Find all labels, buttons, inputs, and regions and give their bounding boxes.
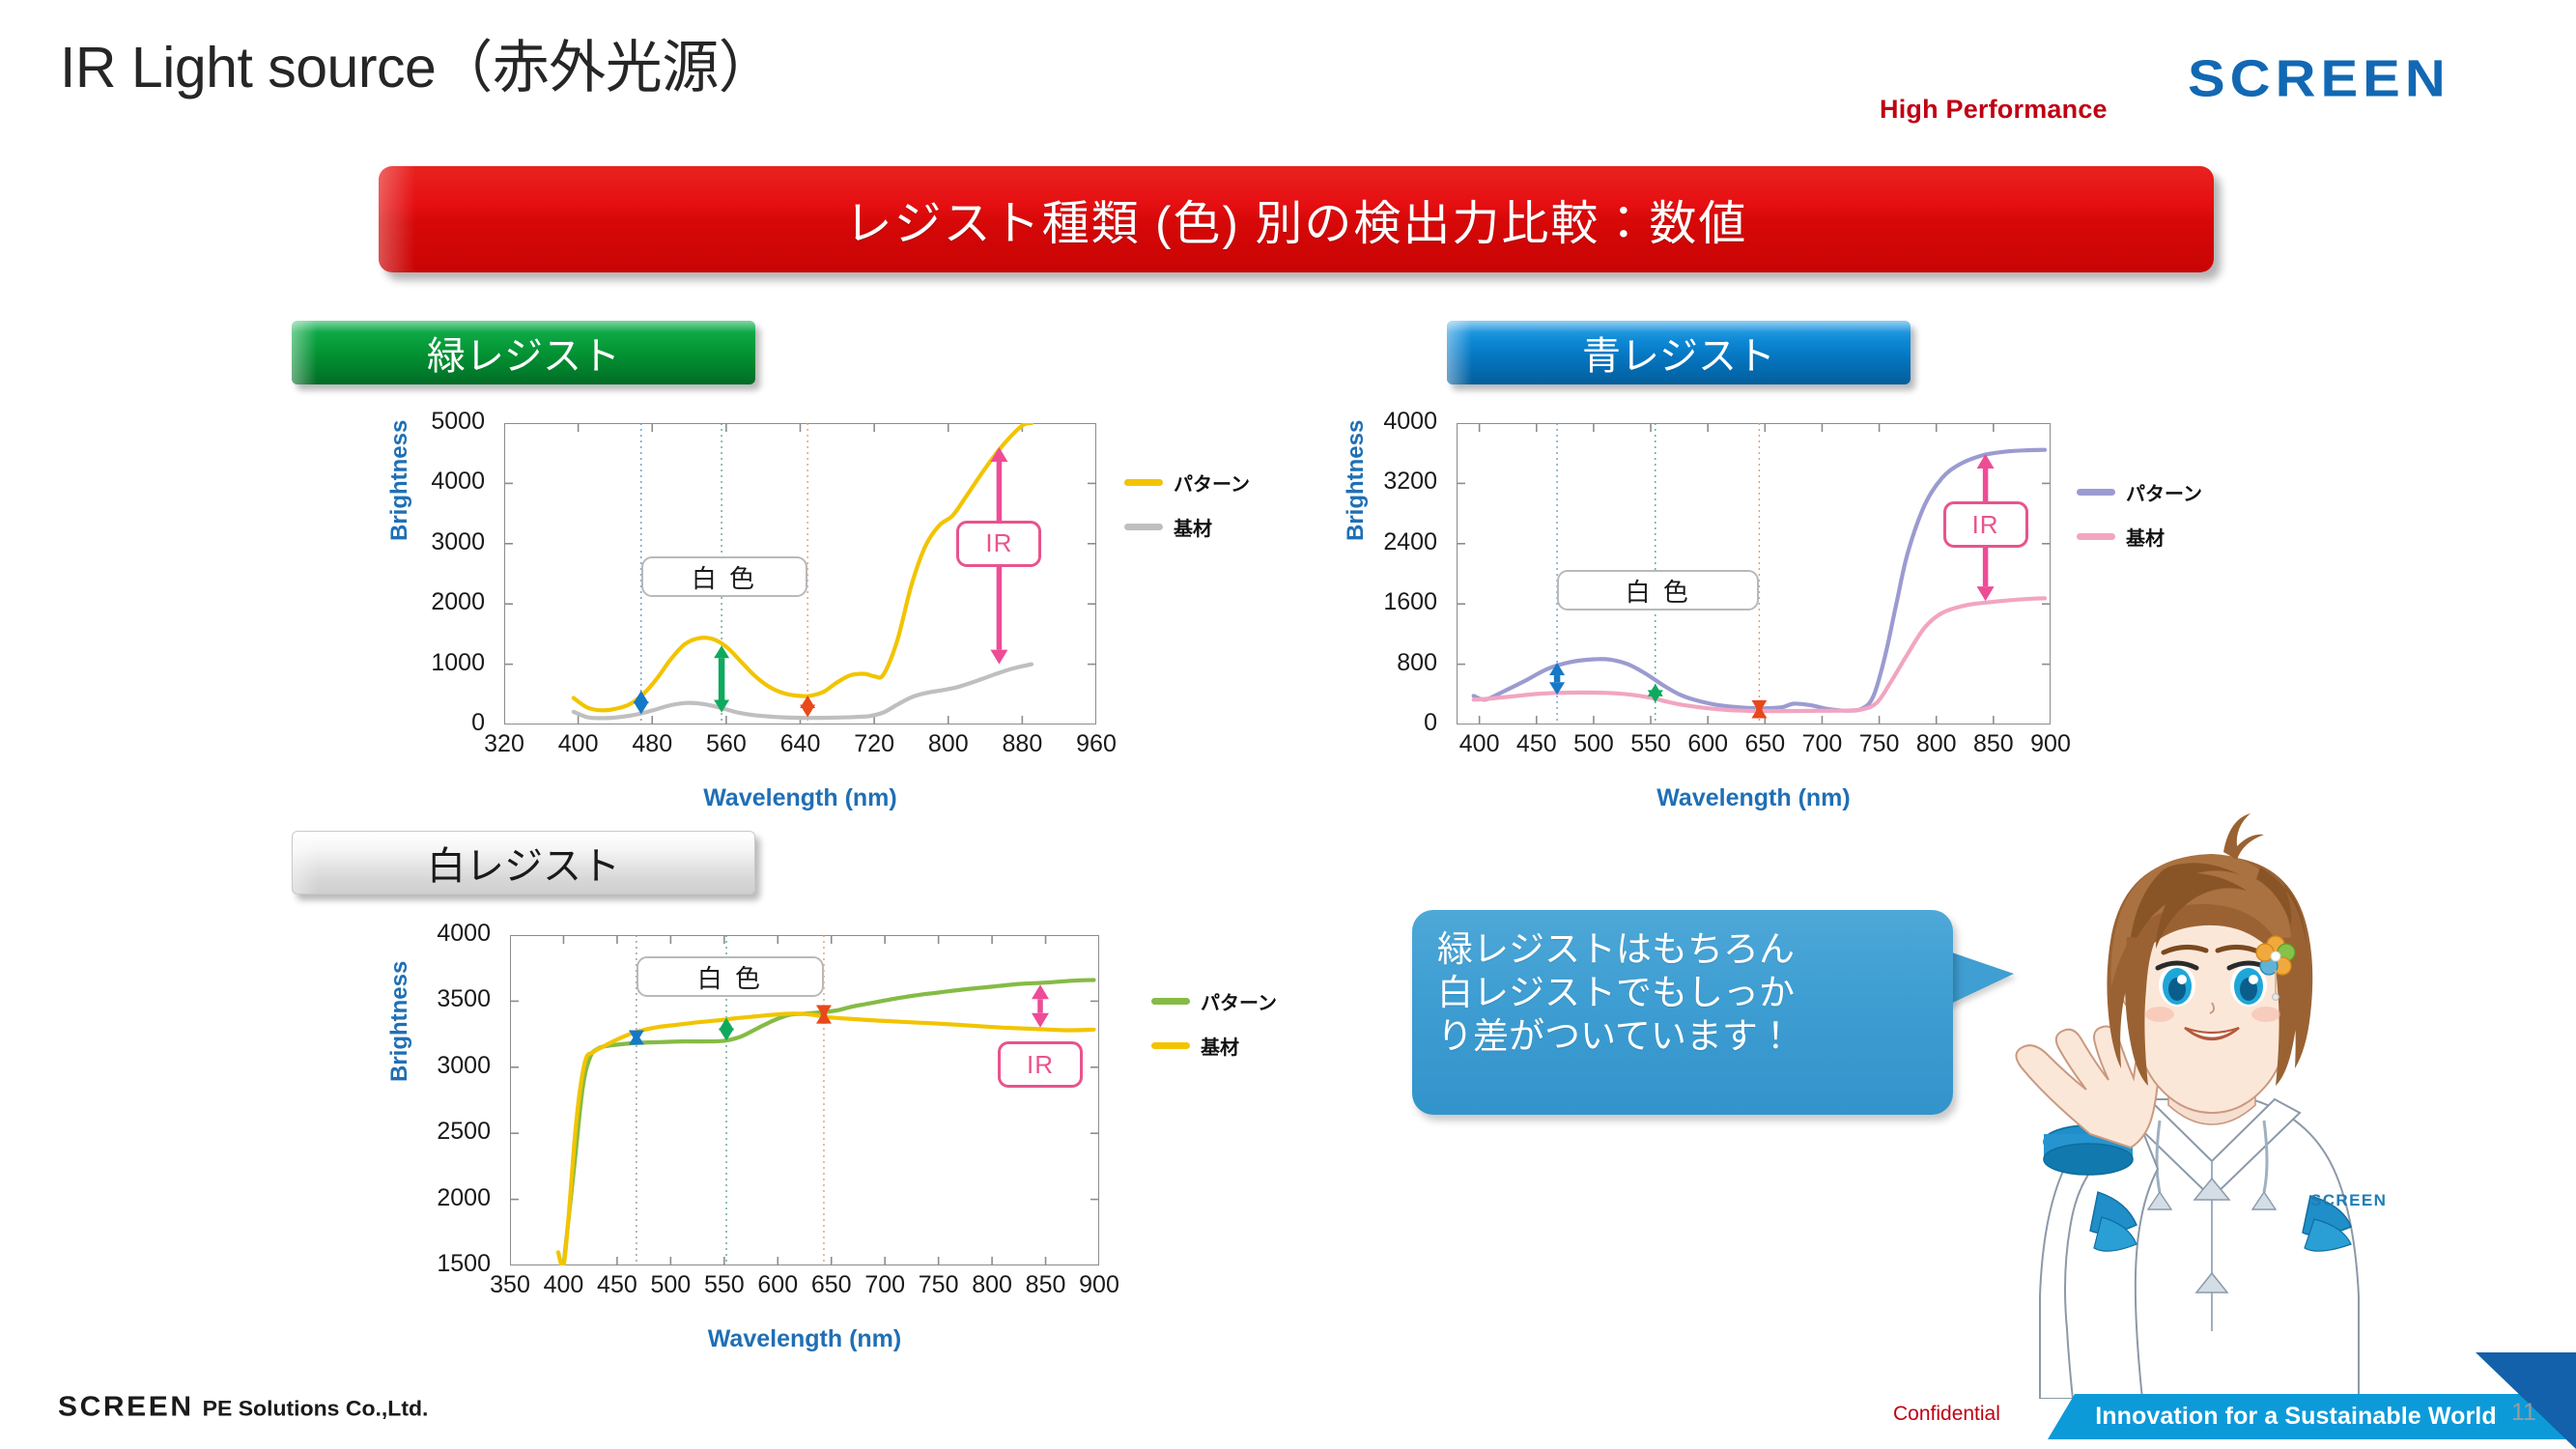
- callout-bubble: 緑レジストはもちろん 白レジストでもしっか り差がついています！: [1412, 910, 1953, 1115]
- legend-item: 基材: [2077, 523, 2165, 551]
- legend-swatch: [1124, 479, 1163, 486]
- legend-item: 基材: [1151, 1032, 1239, 1060]
- y-tick-label: 1600: [1337, 588, 1437, 616]
- y-tick-label: 0: [384, 709, 485, 737]
- chart-title-green-resist: 緑レジスト: [292, 321, 755, 384]
- y-tick-label: 1500: [390, 1250, 491, 1278]
- chart-title-label: 緑レジスト: [427, 325, 620, 381]
- y-tick-label: 2500: [390, 1118, 491, 1146]
- footer-tagline-text: Innovation for a Sustainable World: [2095, 1403, 2496, 1431]
- x-tick-label: 560: [686, 730, 767, 758]
- section-banner: レジスト種類 (色) 別の検出力比較：数値: [379, 166, 2214, 272]
- screen-logo: SCREEN: [2188, 49, 2450, 109]
- ir-range-box: IR: [1943, 501, 2028, 548]
- x-tick-label: 880: [981, 730, 1062, 758]
- chart-title-blue-resist: 青レジスト: [1447, 321, 1911, 384]
- legend-swatch: [1151, 1042, 1190, 1049]
- ir-range-box: IR: [956, 521, 1041, 567]
- section-banner-label: レジスト種類 (色) 別の検出力比較：数値: [845, 185, 1748, 254]
- x-tick-label: 400: [538, 730, 619, 758]
- legend-label: 基材: [2126, 523, 2165, 551]
- footer-logo: SCREENPE Solutions Co.,Ltd.: [58, 1392, 428, 1423]
- chart-title-label: 青レジスト: [1582, 325, 1775, 381]
- x-tick-label: 640: [760, 730, 841, 758]
- confidential-label: Confidential: [1893, 1403, 2000, 1426]
- high-performance-tagline: High Performance: [1880, 95, 2108, 125]
- legend-item: 基材: [1124, 513, 1212, 541]
- chart-title-white-resist: 白レジスト: [292, 831, 755, 895]
- legend-item: パターン: [1124, 469, 1250, 497]
- legend-item: パターン: [2077, 478, 2202, 506]
- y-tick-label: 2000: [384, 588, 485, 616]
- legend-swatch: [1124, 524, 1163, 530]
- y-tick-label: 0: [1337, 709, 1437, 737]
- mascot-illustration: SCREEN: [1970, 810, 2453, 1399]
- y-tick-label: 4000: [390, 920, 491, 948]
- footer-logo-brand: SCREEN: [58, 1392, 194, 1422]
- y-axis-title: Brightness: [1343, 420, 1370, 541]
- x-tick-label: 480: [611, 730, 693, 758]
- legend-label: 基材: [1201, 1032, 1239, 1060]
- x-axis-title: Wavelength (nm): [504, 784, 1096, 812]
- legend-item: パターン: [1151, 987, 1277, 1015]
- legend-label: パターン: [1174, 469, 1250, 497]
- legend-label: パターン: [1201, 987, 1277, 1015]
- y-axis-title: Brightness: [386, 961, 413, 1082]
- footer-logo-subtitle: PE Solutions Co.,Ltd.: [203, 1397, 429, 1421]
- x-tick-label: 800: [908, 730, 989, 758]
- legend-swatch: [1151, 998, 1190, 1005]
- white-light-range-box: 白 色: [1557, 570, 1759, 611]
- legend-swatch: [2077, 533, 2115, 540]
- ir-range-box: IR: [998, 1041, 1083, 1088]
- y-axis-title: Brightness: [386, 420, 413, 541]
- x-tick-label: 900: [1059, 1271, 1140, 1299]
- y-tick-label: 2000: [390, 1184, 491, 1212]
- page-title: IR Light source（赤外光源）: [60, 21, 775, 103]
- x-tick-label: 900: [2010, 730, 2091, 758]
- x-axis-title: Wavelength (nm): [510, 1325, 1099, 1353]
- y-tick-label: 800: [1337, 649, 1437, 677]
- x-axis-title: Wavelength (nm): [1457, 784, 2051, 812]
- uniform-logo-text: SCREEN: [2310, 1191, 2387, 1209]
- legend-label: パターン: [2126, 478, 2202, 506]
- y-tick-label: 1000: [384, 649, 485, 677]
- page-number: 11: [2511, 1399, 2536, 1427]
- legend-swatch: [2077, 489, 2115, 496]
- footer-tagline-band: Innovation for a Sustainable World: [2048, 1394, 2576, 1439]
- white-light-range-box: 白 色: [637, 956, 824, 997]
- white-light-range-box: 白 色: [641, 556, 807, 597]
- callout-text: 緑レジストはもちろん 白レジストでもしっか り差がついています！: [1437, 927, 1928, 1058]
- legend-label: 基材: [1174, 513, 1212, 541]
- chart-title-label: 白レジスト: [427, 835, 620, 891]
- x-tick-label: 720: [834, 730, 915, 758]
- x-tick-label: 960: [1056, 730, 1137, 758]
